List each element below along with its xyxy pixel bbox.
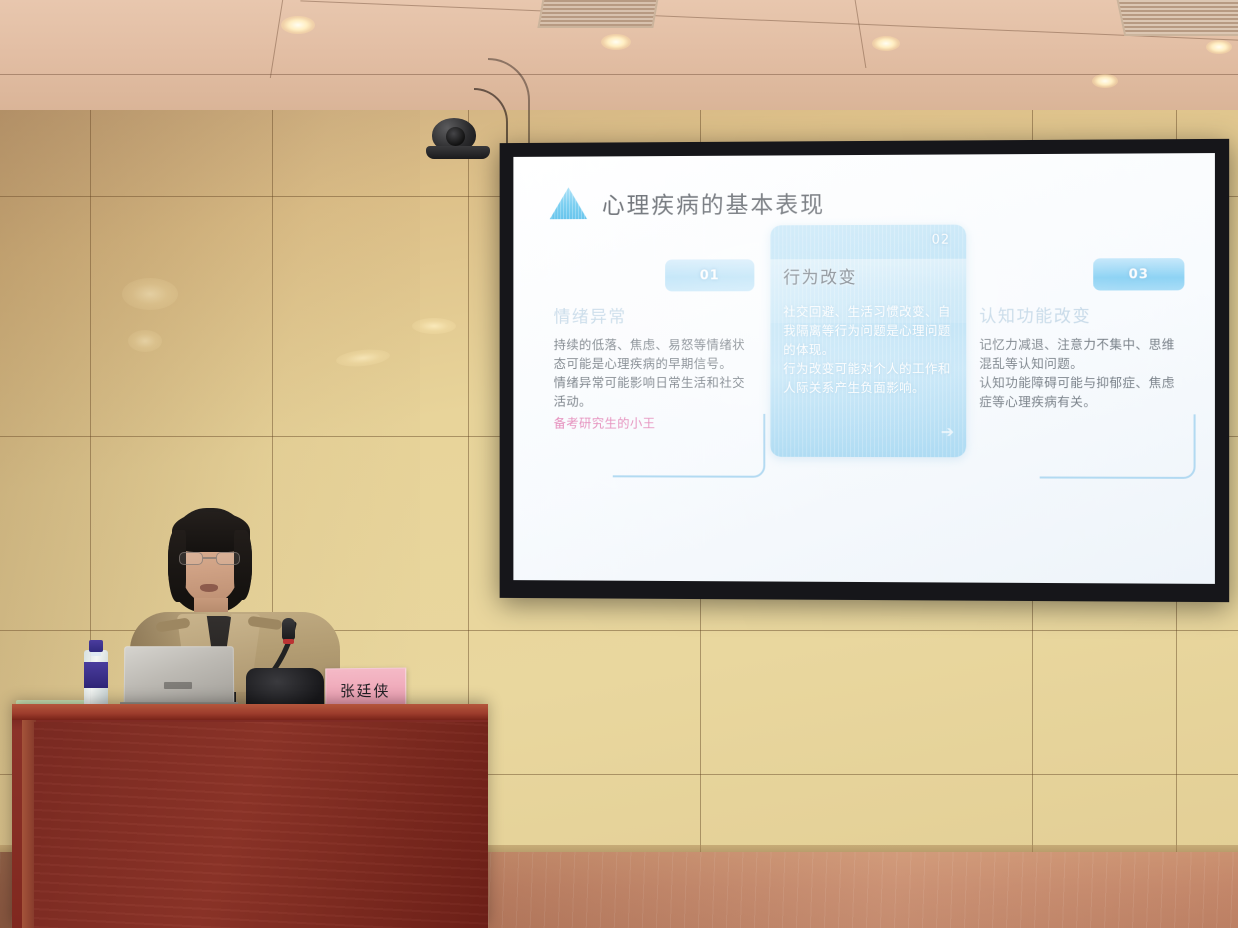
slide-title: 心理疾病的基本表现 [602, 185, 825, 220]
laptop[interactable] [120, 646, 238, 708]
microphone-head [282, 618, 295, 640]
ceiling-seam [300, 0, 1238, 40]
highlighted-card: 02 行为改变 社交回避、生活习惯改变、自我隔离等行为问题是心理问题的体现。 行… [770, 225, 966, 458]
ceiling-downlight [1206, 40, 1232, 54]
laptop-logo-icon [164, 682, 192, 689]
column-heading: 认知功能改变 [979, 301, 1187, 326]
bottle-label [84, 662, 108, 688]
slide-column-2: 02 行为改变 社交回避、生活习惯改变、自我隔离等行为问题是心理问题的体现。 行… [770, 225, 966, 458]
slide-column-3: 03 认知功能改变 记忆力减退、注意力不集中、思维混乱等认知问题。 认知功能障碍… [978, 258, 1188, 474]
ceiling-downlight [872, 36, 900, 51]
column-heading: 行为改变 [783, 263, 953, 288]
bottle-cap [89, 640, 103, 652]
column-note-text: 备考研究生的小王 [554, 413, 758, 432]
slide-column-1: 01 情绪异常 持续的低落、焦虑、易怒等情绪状态可能是心理疾病的早期信号。 情绪… [553, 259, 759, 472]
slide-header: 心理疾病的基本表现 [549, 183, 1193, 220]
column-body-text: 社交回避、生活习惯改变、自我隔离等行为问题是心理问题的体现。 行为改变可能对个人… [783, 302, 953, 397]
column-body-text: 记忆力减退、注意力不集中、思维混乱等认知问题。 认知功能障碍可能与抑郁症、焦虑症… [979, 335, 1187, 412]
ceiling-seam [270, 0, 283, 78]
laptop-lid [124, 646, 235, 704]
podium [12, 704, 488, 928]
ceiling-air-vent [1116, 0, 1238, 36]
column-card-outline: 情绪异常 持续的低落、焦虑、易怒等情绪状态可能是心理疾病的早期信号。 情绪异常可… [553, 301, 759, 473]
column-number-badge: 01 [665, 259, 754, 291]
column-heading: 情绪异常 [554, 302, 758, 327]
ceiling-downlight [1092, 74, 1118, 88]
screen-surface: 心理疾病的基本表现 01 情绪异常 持续的低落、焦虑、易怒等情绪状态可能是心理疾… [513, 153, 1215, 584]
glasses-lens [216, 552, 240, 565]
glasses-icon [178, 552, 242, 566]
ceiling-air-vent [537, 0, 658, 28]
projection-screen: 心理疾病的基本表现 01 情绪异常 持续的低落、焦虑、易怒等情绪状态可能是心理疾… [500, 139, 1230, 602]
ptz-camera [426, 118, 492, 176]
ceiling [0, 0, 1238, 118]
nameplate-text: 张廷侠 [340, 679, 390, 700]
podium-top-surface [12, 704, 488, 720]
lecture-hall-scene: 心理疾病的基本表现 01 情绪异常 持续的低落、焦虑、易怒等情绪状态可能是心理疾… [0, 0, 1238, 928]
column-number-badge: 03 [1093, 258, 1184, 290]
glasses-bridge [203, 557, 216, 559]
ceiling-seam [855, 0, 867, 68]
presentation-slide: 心理疾病的基本表现 01 情绪异常 持续的低落、焦虑、易怒等情绪状态可能是心理疾… [513, 153, 1215, 584]
camera-lens-icon [446, 127, 465, 146]
microphone-indicator [283, 639, 294, 644]
column-number-badge: 02 [932, 233, 951, 248]
ceiling-downlight [601, 34, 631, 50]
column-body-text: 持续的低落、焦虑、易怒等情绪状态可能是心理疾病的早期信号。 情绪异常可能影响日常… [554, 335, 758, 411]
triangle-icon [549, 186, 588, 220]
water-bottle [84, 636, 108, 712]
camera-mount [426, 146, 490, 159]
podium-front-panel [34, 722, 488, 928]
ceiling-seam [0, 74, 1238, 75]
ceiling-downlight [281, 16, 315, 34]
glasses-lens [179, 552, 203, 565]
slide-columns: 01 情绪异常 持续的低落、焦虑、易怒等情绪状态可能是心理疾病的早期信号。 情绪… [553, 258, 1189, 581]
hair [168, 530, 186, 602]
arrow-right-icon: ➔ [941, 422, 954, 441]
column-card-outline: 认知功能改变 记忆力减退、注意力不集中、思维混乱等认知问题。 认知功能障碍可能与… [978, 300, 1188, 473]
mouth [200, 584, 218, 592]
